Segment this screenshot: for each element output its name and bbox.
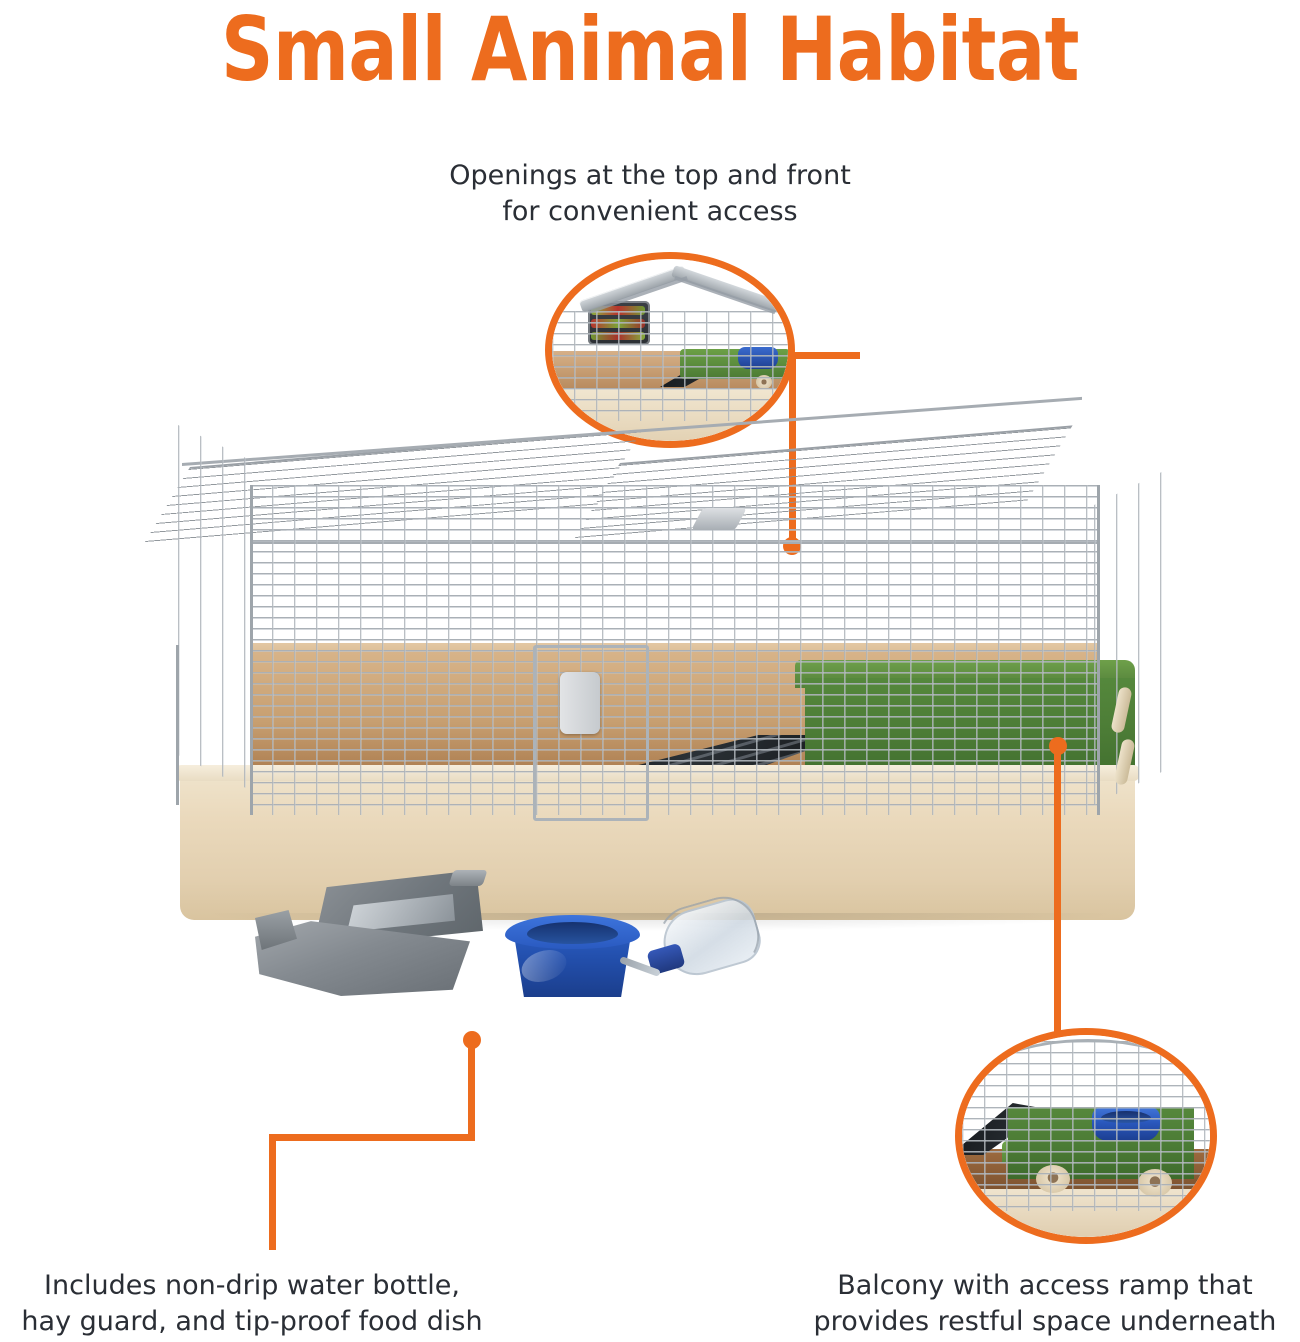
cage-corner-post-right: [1097, 485, 1100, 815]
front-door-latch[interactable]: [560, 672, 600, 734]
connector-accessories-vertical-1: [468, 1038, 475, 1138]
connector-accessories-horizontal: [269, 1134, 475, 1141]
caption-top-line1: Openings at the top and front: [325, 158, 975, 194]
caption-br-line1: Balcony with access ramp that: [790, 1268, 1300, 1304]
caption-top-openings: Openings at the top and front for conven…: [325, 158, 975, 230]
connector-balcony-vertical: [1054, 744, 1061, 1034]
connector-top-horizontal: [788, 352, 860, 359]
caption-bl-line1: Includes non-drip water bottle,: [0, 1268, 512, 1304]
cage-corner-post-rear-left: [176, 645, 179, 805]
cage-front-bars: [250, 485, 1100, 815]
caption-top-line2: for convenient access: [325, 194, 975, 230]
page-title: Small Animal Habitat: [52, 2, 1248, 98]
hay-guard: [255, 870, 500, 995]
caption-bl-line2: hay guard, and tip-proof food dish: [0, 1304, 512, 1340]
callout-top-image: [552, 259, 788, 441]
water-bottle: [615, 905, 770, 1010]
callout-top-openings: [545, 252, 795, 448]
caption-balcony: Balcony with access ramp that provides r…: [790, 1268, 1300, 1340]
food-dish-hollow: [527, 922, 618, 944]
callout-balcony-detail: [955, 1028, 1217, 1244]
cage-left-end-panel: [178, 425, 256, 793]
infographic-canvas: Small Animal Habitat Openings at the top…: [0, 0, 1300, 1342]
caption-accessories: Includes non-drip water bottle, hay guar…: [0, 1268, 512, 1340]
connector-accessories-vertical-2: [269, 1134, 276, 1250]
caption-br-line2: provides restful space underneath: [790, 1304, 1300, 1340]
callout-balcony-image: [962, 1035, 1210, 1237]
hay-guard-top-clip: [448, 870, 487, 886]
callout-top-mesh-vertical: [552, 311, 788, 421]
cage-corner-post-left: [250, 485, 253, 815]
water-bottle-hanger-wire: [651, 889, 768, 988]
included-accessories: [240, 865, 770, 1000]
